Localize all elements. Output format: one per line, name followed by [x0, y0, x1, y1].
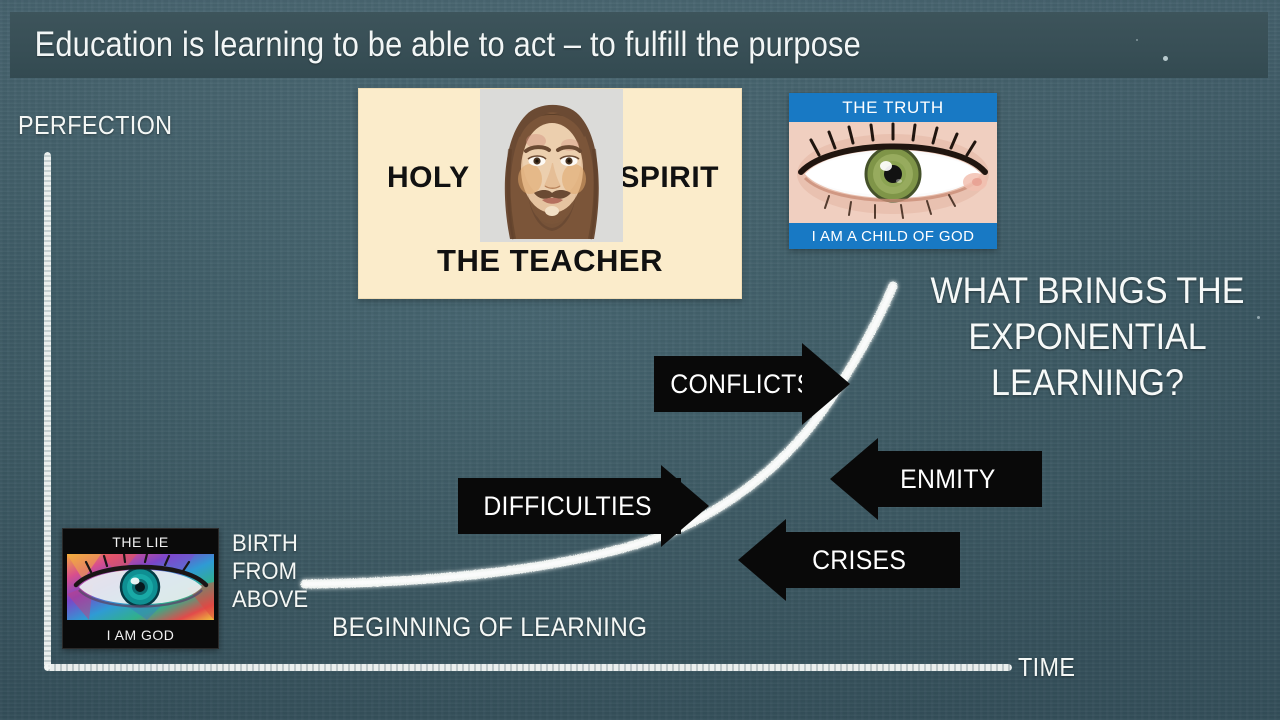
- title-banner: Education is learning to be able to act …: [10, 12, 1268, 78]
- jesus-portrait-image: [480, 89, 623, 242]
- headline-line-1: WHAT BRINGS THE: [920, 268, 1256, 314]
- truth-card: THE TRUTH: [789, 93, 997, 249]
- arrow-difficulties: DIFFICULTIES: [458, 478, 710, 534]
- chalk-speck: [1163, 56, 1168, 61]
- headline-line-2: EXPONENTIAL: [920, 314, 1256, 360]
- arrow-crises: CRISES: [738, 532, 936, 588]
- spirit-label: SPIRIT: [619, 161, 719, 195]
- arrow-difficulties-body: DIFFICULTIES: [458, 478, 681, 534]
- arrow-left-head-icon: [738, 519, 786, 601]
- holy-label: HOLY: [387, 161, 470, 195]
- arrow-enmity: ENMITY: [830, 451, 1022, 507]
- y-axis-line: [44, 152, 51, 670]
- birth-line-3: ABOVE: [232, 586, 308, 614]
- y-axis-label: PERFECTION: [18, 110, 172, 141]
- arrow-difficulties-label: DIFFICULTIES: [483, 491, 651, 522]
- chalk-speck: [1136, 39, 1138, 41]
- x-axis-label: TIME: [1018, 652, 1075, 683]
- slide-canvas: Education is learning to be able to act …: [0, 0, 1280, 720]
- truth-bottom-label: I AM A CHILD OF GOD: [789, 223, 997, 249]
- arrow-crises-body: CRISES: [784, 532, 960, 588]
- chalk-speck: [1257, 316, 1260, 319]
- birth-line-1: BIRTH: [232, 530, 308, 558]
- holy-spirit-teacher-card: HOLY SPIRIT: [358, 88, 742, 299]
- arrow-crises-label: CRISES: [812, 545, 906, 576]
- arrow-enmity-label: ENMITY: [900, 464, 996, 495]
- arrow-right-head-icon: [802, 343, 850, 425]
- arrow-conflicts-body: CONFLICTS: [654, 356, 814, 412]
- page-title: Education is learning to be able to act …: [10, 25, 861, 65]
- arrow-right-head-icon: [661, 465, 709, 547]
- arrow-left-head-icon: [830, 438, 878, 520]
- lie-bottom-label: I AM GOD: [63, 621, 218, 648]
- birth-from-above-label: BIRTH FROM ABOVE: [232, 530, 308, 614]
- headline-line-3: LEARNING?: [920, 360, 1256, 406]
- arrow-conflicts-label: CONFLICTS: [670, 369, 813, 400]
- beginning-of-learning-label: BEGINNING OF LEARNING: [332, 612, 647, 643]
- truth-top-label: THE TRUTH: [789, 93, 997, 122]
- lie-card: THE LIE: [62, 528, 219, 649]
- lie-top-label: THE LIE: [63, 529, 218, 554]
- birth-line-2: FROM: [232, 558, 308, 586]
- x-axis-line: [44, 664, 1012, 671]
- green-eye-image: [789, 122, 997, 223]
- headline-question: WHAT BRINGS THE EXPONENTIAL LEARNING?: [920, 268, 1256, 406]
- teacher-caption: THE TEACHER: [359, 243, 741, 279]
- arrow-enmity-body: ENMITY: [876, 451, 1042, 507]
- colorful-eye-image: [67, 554, 214, 620]
- arrow-conflicts: CONFLICTS: [654, 356, 852, 412]
